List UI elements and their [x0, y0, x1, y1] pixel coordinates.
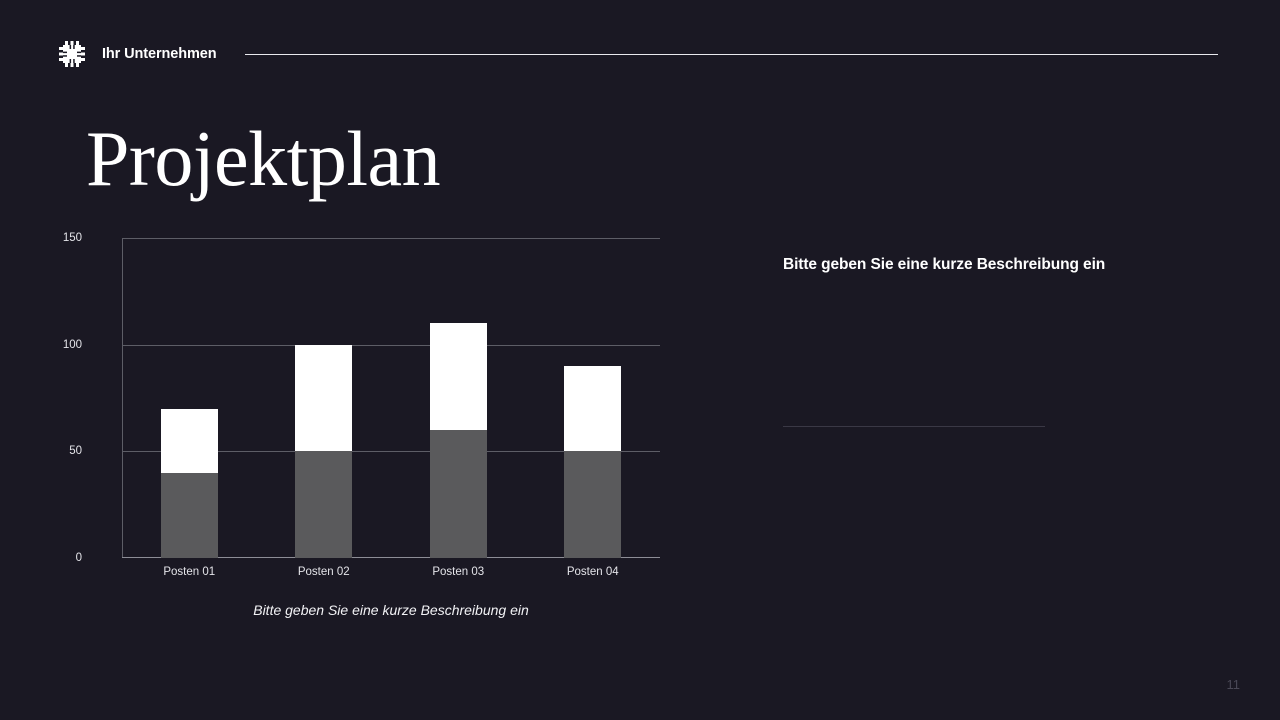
- header-rule: [245, 54, 1218, 55]
- y-axis-tick-label: 0: [76, 552, 82, 564]
- bar-segment[interactable]: [161, 473, 218, 558]
- side-panel-divider: [783, 426, 1045, 427]
- x-axis-tick-label: Posten 02: [257, 566, 392, 578]
- bar-series-group: [122, 238, 660, 558]
- slide-root: Ihr Unternehmen Projektplan 050100150 Po…: [0, 0, 1280, 720]
- bar-segment[interactable]: [295, 345, 352, 452]
- bar-stack[interactable]: [564, 366, 621, 558]
- bar-segment[interactable]: [161, 409, 218, 473]
- x-axis-tick-labels: Posten 01Posten 02Posten 03Posten 04: [122, 566, 660, 578]
- side-panel-heading: Bitte geben Sie eine kurze Beschreibung …: [783, 254, 1203, 276]
- chart-plot-area: 050100150 Posten 01Posten 02Posten 03Pos…: [86, 228, 666, 568]
- page-number: 11: [1227, 677, 1241, 692]
- brand-name: Ihr Unternehmen: [102, 46, 217, 62]
- bar-segment[interactable]: [295, 451, 352, 558]
- slide-header: Ihr Unternehmen: [56, 38, 1218, 70]
- chip-logo-icon: [56, 38, 88, 70]
- bar-stack[interactable]: [295, 345, 352, 558]
- bar-segment[interactable]: [430, 323, 487, 430]
- bar-group[interactable]: [122, 238, 257, 558]
- y-axis-tick-label: 50: [69, 445, 82, 457]
- chart-caption: Bitte geben Sie eine kurze Beschreibung …: [122, 602, 660, 618]
- bar-group[interactable]: [391, 238, 526, 558]
- bar-group[interactable]: [526, 238, 661, 558]
- side-panel: Bitte geben Sie eine kurze Beschreibung …: [783, 254, 1203, 276]
- y-axis-tick-label: 100: [63, 339, 82, 351]
- bar-group[interactable]: [257, 238, 392, 558]
- x-axis-tick-label: Posten 04: [526, 566, 661, 578]
- x-axis-tick-label: Posten 03: [391, 566, 526, 578]
- bar-segment[interactable]: [564, 451, 621, 558]
- x-axis-tick-label: Posten 01: [122, 566, 257, 578]
- bar-segment[interactable]: [564, 366, 621, 451]
- bar-stack[interactable]: [161, 409, 218, 558]
- bar-chart: 050100150 Posten 01Posten 02Posten 03Pos…: [86, 228, 666, 628]
- page-title: Projektplan: [86, 113, 440, 205]
- bar-stack[interactable]: [430, 323, 487, 558]
- y-axis-tick-label: 150: [63, 232, 82, 244]
- bar-segment[interactable]: [430, 430, 487, 558]
